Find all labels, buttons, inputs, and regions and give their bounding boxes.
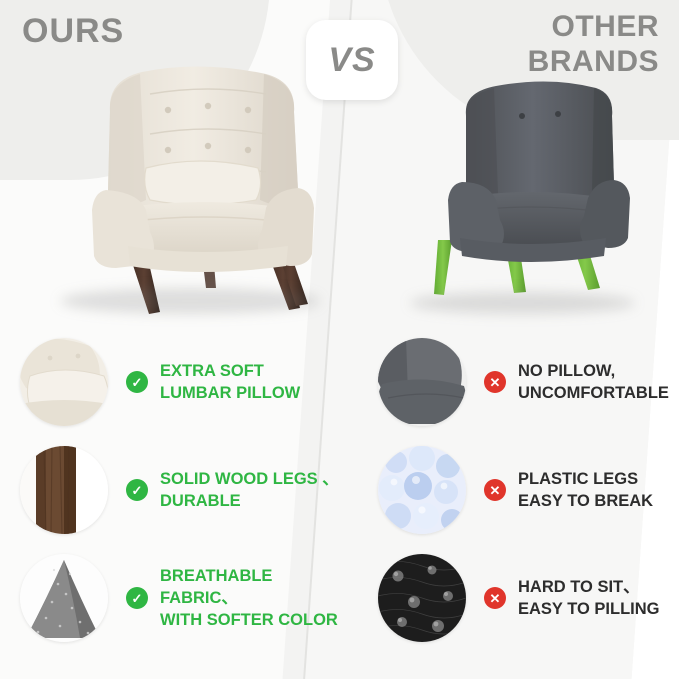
feature-label: EXTRA SOFT LUMBAR PILLOW — [160, 360, 300, 405]
feature-row: ✕ PLASTIC LEGS EASY TO BREAK — [378, 436, 678, 544]
plastic-leg-thumbnail — [378, 446, 466, 534]
feature-row: ✓ EXTRA SOFT LUMBAR PILLOW — [20, 328, 340, 436]
other-feature-list: ✕ NO PILLOW, UNCOMFORTABLE — [378, 328, 678, 652]
ours-feature-list: ✓ EXTRA SOFT LUMBAR PILLOW ✓ SOLID WOOD … — [20, 328, 340, 652]
no-pillow-thumbnail — [378, 338, 466, 426]
other-chair-shadow — [410, 292, 635, 314]
ours-chair-image — [50, 50, 330, 312]
feature-label: SOLID WOOD LEGS 、 DURABLE — [160, 468, 339, 513]
other-chair-image — [400, 70, 650, 310]
ours-chair-illustration — [50, 50, 330, 320]
feature-label: NO PILLOW, UNCOMFORTABLE — [518, 360, 669, 405]
lumbar-pillow-thumbnail — [20, 338, 108, 426]
comparison-infographic: OURS OTHER BRANDS VS — [0, 0, 679, 679]
feature-row: ✓ BREATHABLE FABRIC、 WITH SOFTER COLOR — [20, 544, 340, 652]
feature-label: BREATHABLE FABRIC、 WITH SOFTER COLOR — [160, 565, 340, 632]
other-brands-title: OTHER BRANDS — [528, 10, 659, 79]
ours-chair-shadow — [60, 288, 320, 314]
pilling-fabric-thumbnail — [378, 554, 466, 642]
wood-leg-thumbnail — [20, 446, 108, 534]
versus-badge: VS — [306, 20, 398, 100]
other-chair-illustration — [400, 70, 650, 320]
breathable-fabric-thumbnail — [20, 554, 108, 642]
check-icon: ✓ — [126, 479, 148, 501]
ours-title: OURS — [22, 14, 124, 50]
cross-icon: ✕ — [484, 371, 506, 393]
check-icon: ✓ — [126, 371, 148, 393]
check-icon: ✓ — [126, 587, 148, 609]
feature-row: ✓ SOLID WOOD LEGS 、 DURABLE — [20, 436, 340, 544]
feature-label: HARD TO SIT、 EASY TO PILLING — [518, 576, 660, 621]
cross-icon: ✕ — [484, 587, 506, 609]
feature-row: ✕ HARD TO SIT、 EASY TO PILLING — [378, 544, 678, 652]
feature-label: PLASTIC LEGS EASY TO BREAK — [518, 468, 653, 513]
cross-icon: ✕ — [484, 479, 506, 501]
feature-row: ✕ NO PILLOW, UNCOMFORTABLE — [378, 328, 678, 436]
other-brands-title-line1: OTHER — [528, 10, 659, 45]
